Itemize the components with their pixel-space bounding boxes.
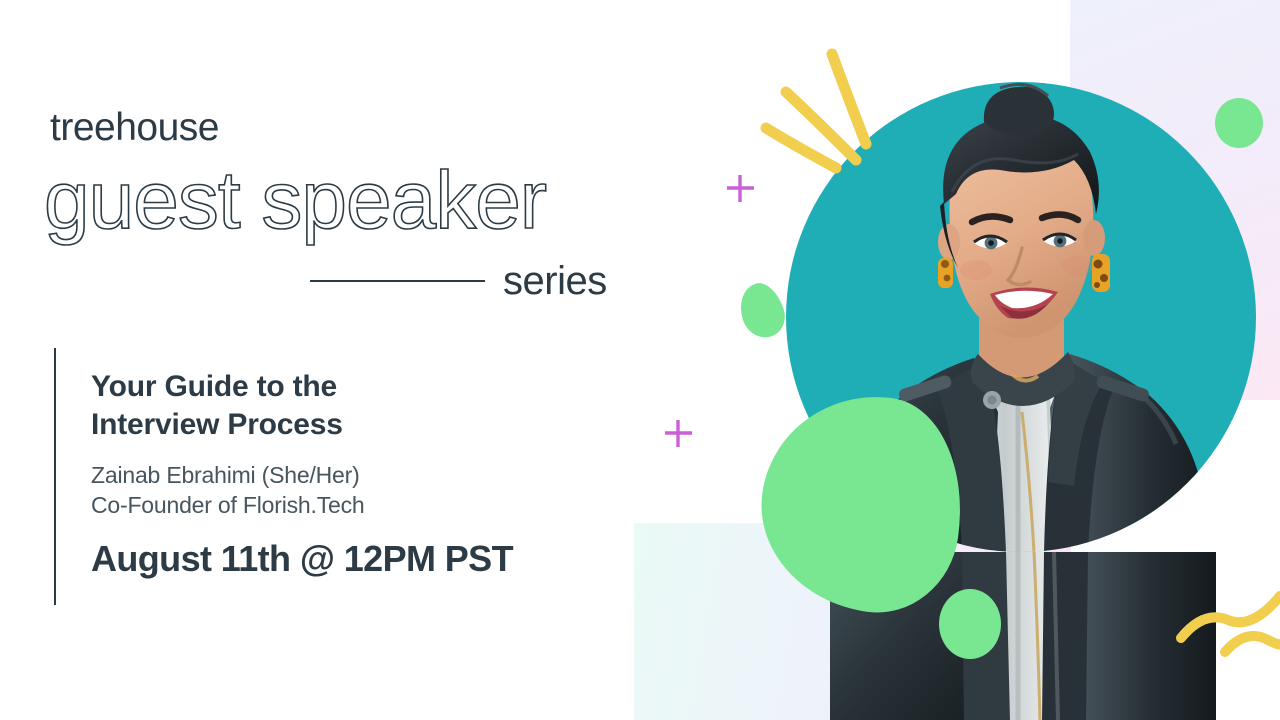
left-accent-rule [54, 348, 56, 605]
speaker-name: Zainab Ebrahimi (She/Her) [91, 460, 611, 491]
speaker-role: Co-Founder of Florish.Tech [91, 490, 611, 521]
pink-plus-lower [665, 420, 692, 447]
session-datetime: August 11th @ 12PM PST [91, 539, 611, 579]
session-details: Your Guide to the Interview Process Zain… [91, 368, 611, 579]
earring-right [1092, 254, 1110, 292]
series-divider-rule [310, 280, 485, 282]
green-circle-bottom [939, 589, 1001, 659]
headline-outline: guest speaker [44, 160, 546, 242]
brand-wordmark: treehouse [50, 108, 219, 147]
series-row: series [310, 258, 625, 304]
earring-left [938, 258, 953, 288]
promo-banner: treehouse guest speaker series Your Guid… [0, 0, 1280, 720]
pink-plus-top [727, 175, 754, 202]
green-circle-topright [1215, 98, 1263, 148]
series-label: series [503, 261, 607, 301]
green-blob-small [734, 278, 791, 343]
session-title-line-1: Your Guide to the [91, 368, 611, 406]
session-title-line-2: Interview Process [91, 406, 611, 444]
